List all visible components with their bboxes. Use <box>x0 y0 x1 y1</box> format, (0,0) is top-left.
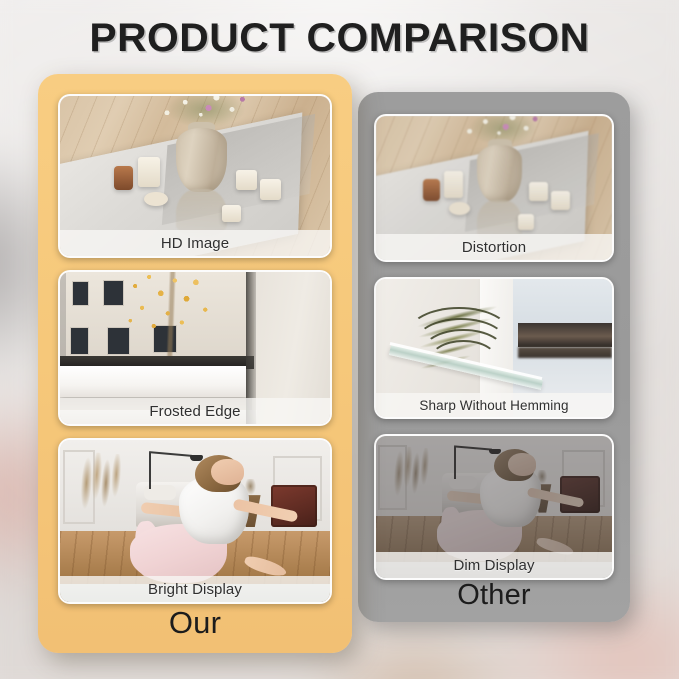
card-caption: HD Image <box>60 230 330 256</box>
card-caption: Frosted Edge <box>60 398 330 424</box>
card-distortion[interactable]: Distortion <box>374 114 614 262</box>
card-bright-display[interactable]: Bright Display <box>58 438 332 604</box>
our-panel: HD Image <box>38 74 352 653</box>
card-caption: Bright Display <box>60 576 330 602</box>
other-panel-label: Other <box>358 579 630 612</box>
infographic-canvas: PRODUCT COMPARISON <box>0 0 679 679</box>
our-panel-label: Our <box>38 605 352 641</box>
page-title: PRODUCT COMPARISON <box>0 16 679 61</box>
card-hd-image[interactable]: HD Image <box>58 94 332 258</box>
card-caption: Dim Display <box>376 552 612 578</box>
card-caption: Sharp Without Hemming <box>376 393 612 417</box>
other-panel: Distortion Sha <box>358 92 630 622</box>
card-caption: Distortion <box>376 234 612 260</box>
card-sharp-without-hemming[interactable]: Sharp Without Hemming <box>374 277 614 419</box>
card-frosted-edge[interactable]: Frosted Edge <box>58 270 332 426</box>
card-dim-display[interactable]: Dim Display <box>374 434 614 580</box>
